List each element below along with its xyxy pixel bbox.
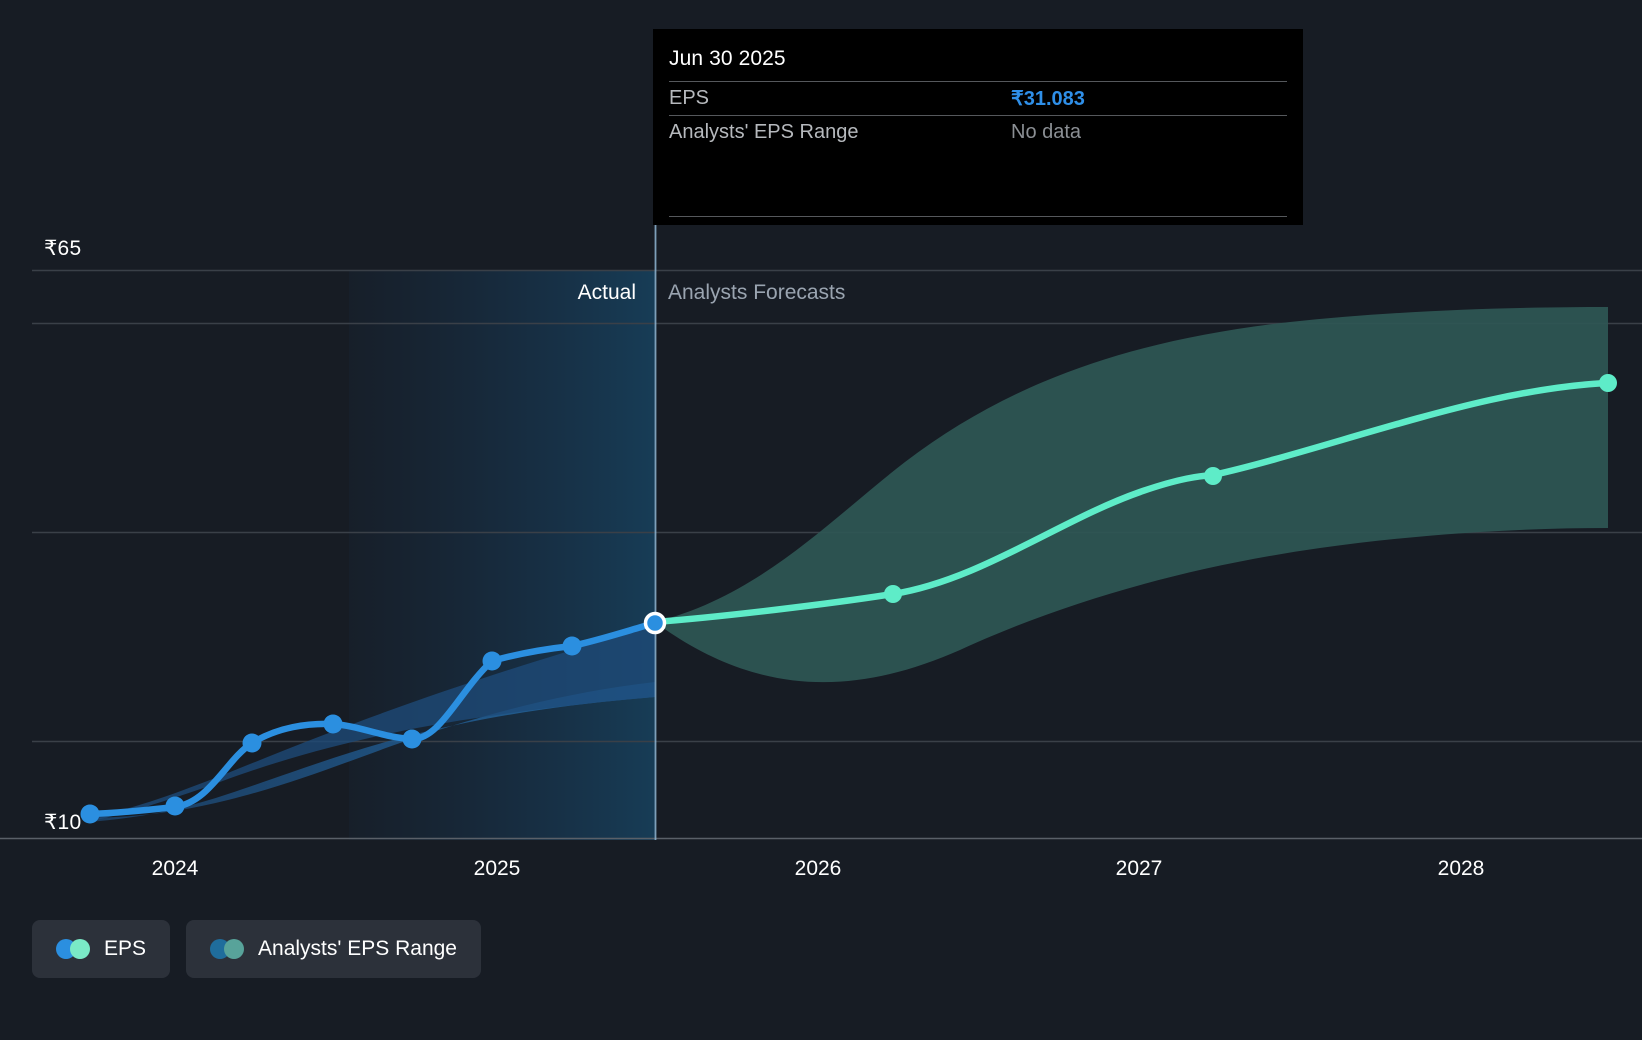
tooltip-row-range: Analysts' EPS Range No data: [669, 115, 1287, 149]
eps-forecast-chart: ₹65 ₹10 Actual Analysts Forecasts 2024 2…: [0, 0, 1642, 1040]
legend-label-eps: EPS: [104, 937, 146, 961]
forecast-period-label: Analysts Forecasts: [668, 281, 845, 305]
tooltip-key-range: Analysts' EPS Range: [669, 121, 1011, 144]
chart-legend[interactable]: EPS Analysts' EPS Range: [32, 920, 481, 978]
legend-item-eps[interactable]: EPS: [32, 920, 170, 978]
x-tick-2025: 2025: [474, 857, 521, 881]
legend-swatch-range-icon: [210, 939, 244, 959]
actual-period-label: Actual: [578, 281, 636, 305]
tooltip-title: Jun 30 2025: [669, 47, 1287, 81]
x-tick-2028: 2028: [1438, 857, 1485, 881]
y-axis-top-label: ₹65: [44, 236, 81, 261]
legend-swatch-eps-icon: [56, 939, 90, 959]
tooltip-key-eps: EPS: [669, 87, 1011, 110]
tooltip-value-range: No data: [1011, 121, 1081, 144]
tooltip-footer-divider: [669, 216, 1287, 217]
x-tick-2024: 2024: [152, 857, 199, 881]
tooltip-value-eps: ₹31.083: [1011, 86, 1085, 111]
x-tick-2026: 2026: [795, 857, 842, 881]
x-tick-2027: 2027: [1116, 857, 1163, 881]
hovered-point-marker: [646, 614, 665, 633]
actual-period-shading: [349, 270, 655, 840]
y-axis-bottom-label: ₹10: [44, 810, 81, 835]
legend-label-analysts-eps-range: Analysts' EPS Range: [258, 937, 457, 961]
chart-tooltip: Jun 30 2025 EPS ₹31.083 Analysts' EPS Ra…: [653, 29, 1303, 225]
x-axis: 2024 2025 2026 2027 2028: [0, 838, 1642, 898]
tooltip-row-eps: EPS ₹31.083: [669, 81, 1287, 115]
legend-item-analysts-eps-range[interactable]: Analysts' EPS Range: [186, 920, 481, 978]
